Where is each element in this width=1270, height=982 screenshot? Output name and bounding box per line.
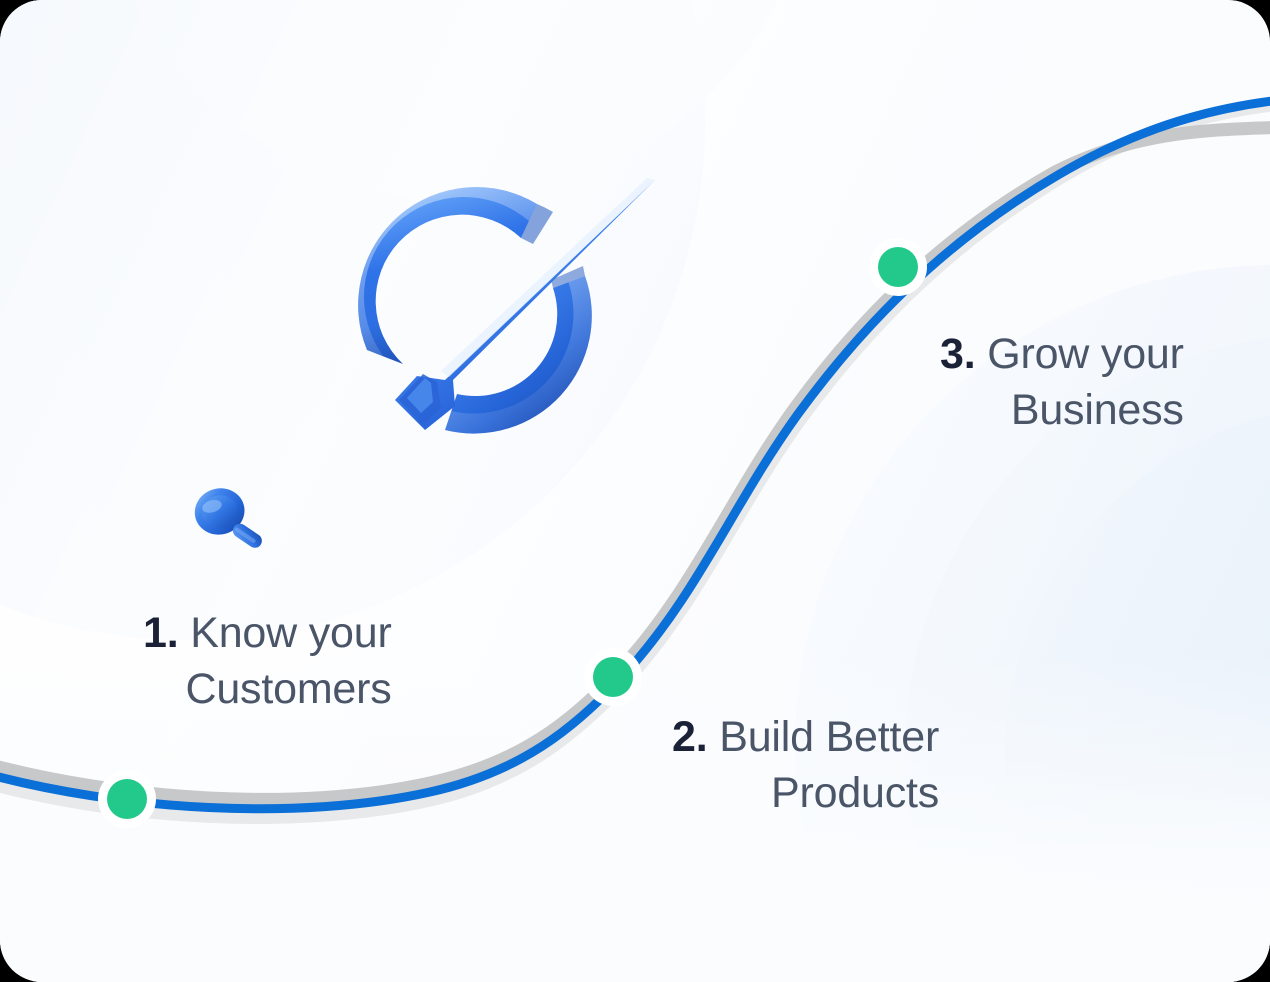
milestone-node-2-dot bbox=[593, 657, 633, 697]
step-label-2: 2. Build Better Products bbox=[672, 710, 939, 822]
step-3-text-line-2: Business bbox=[940, 383, 1184, 439]
step-2-text-line-1: Build Better bbox=[719, 713, 939, 761]
step-1-line-1: 1. Know your bbox=[143, 606, 392, 662]
step-2-text-line-2: Products bbox=[672, 766, 939, 822]
step-label-1: 1. Know your Customers bbox=[143, 606, 392, 718]
step-2-number: 2. bbox=[672, 713, 707, 761]
step-1-number: 1. bbox=[143, 609, 178, 657]
milestone-node-1-dot bbox=[107, 779, 147, 819]
milestone-node-3-dot bbox=[878, 247, 918, 287]
growth-curve-chart bbox=[0, 0, 1270, 982]
step-1-text-line-2: Customers bbox=[143, 662, 392, 718]
orbit-slash-logo-icon bbox=[337, 168, 667, 460]
step-3-number: 3. bbox=[940, 330, 975, 378]
milestone-node-2[interactable] bbox=[584, 648, 642, 706]
step-label-3: 3. Grow your Business bbox=[940, 327, 1184, 439]
milestone-node-1[interactable] bbox=[98, 770, 156, 828]
step-3-text-line-1: Grow your bbox=[987, 330, 1184, 378]
magnifying-glass-icon bbox=[192, 482, 262, 560]
step-2-line-1: 2. Build Better bbox=[672, 710, 939, 766]
logo-arc-upper bbox=[358, 187, 537, 364]
milestone-node-3[interactable] bbox=[869, 238, 927, 296]
step-1-text-line-1: Know your bbox=[190, 609, 391, 657]
growth-journey-card: 1. Know your Customers 2. Build Better P… bbox=[0, 0, 1270, 982]
search-icon-decoration bbox=[192, 482, 262, 560]
brand-logo bbox=[337, 168, 667, 460]
step-3-line-1: 3. Grow your bbox=[940, 327, 1184, 383]
